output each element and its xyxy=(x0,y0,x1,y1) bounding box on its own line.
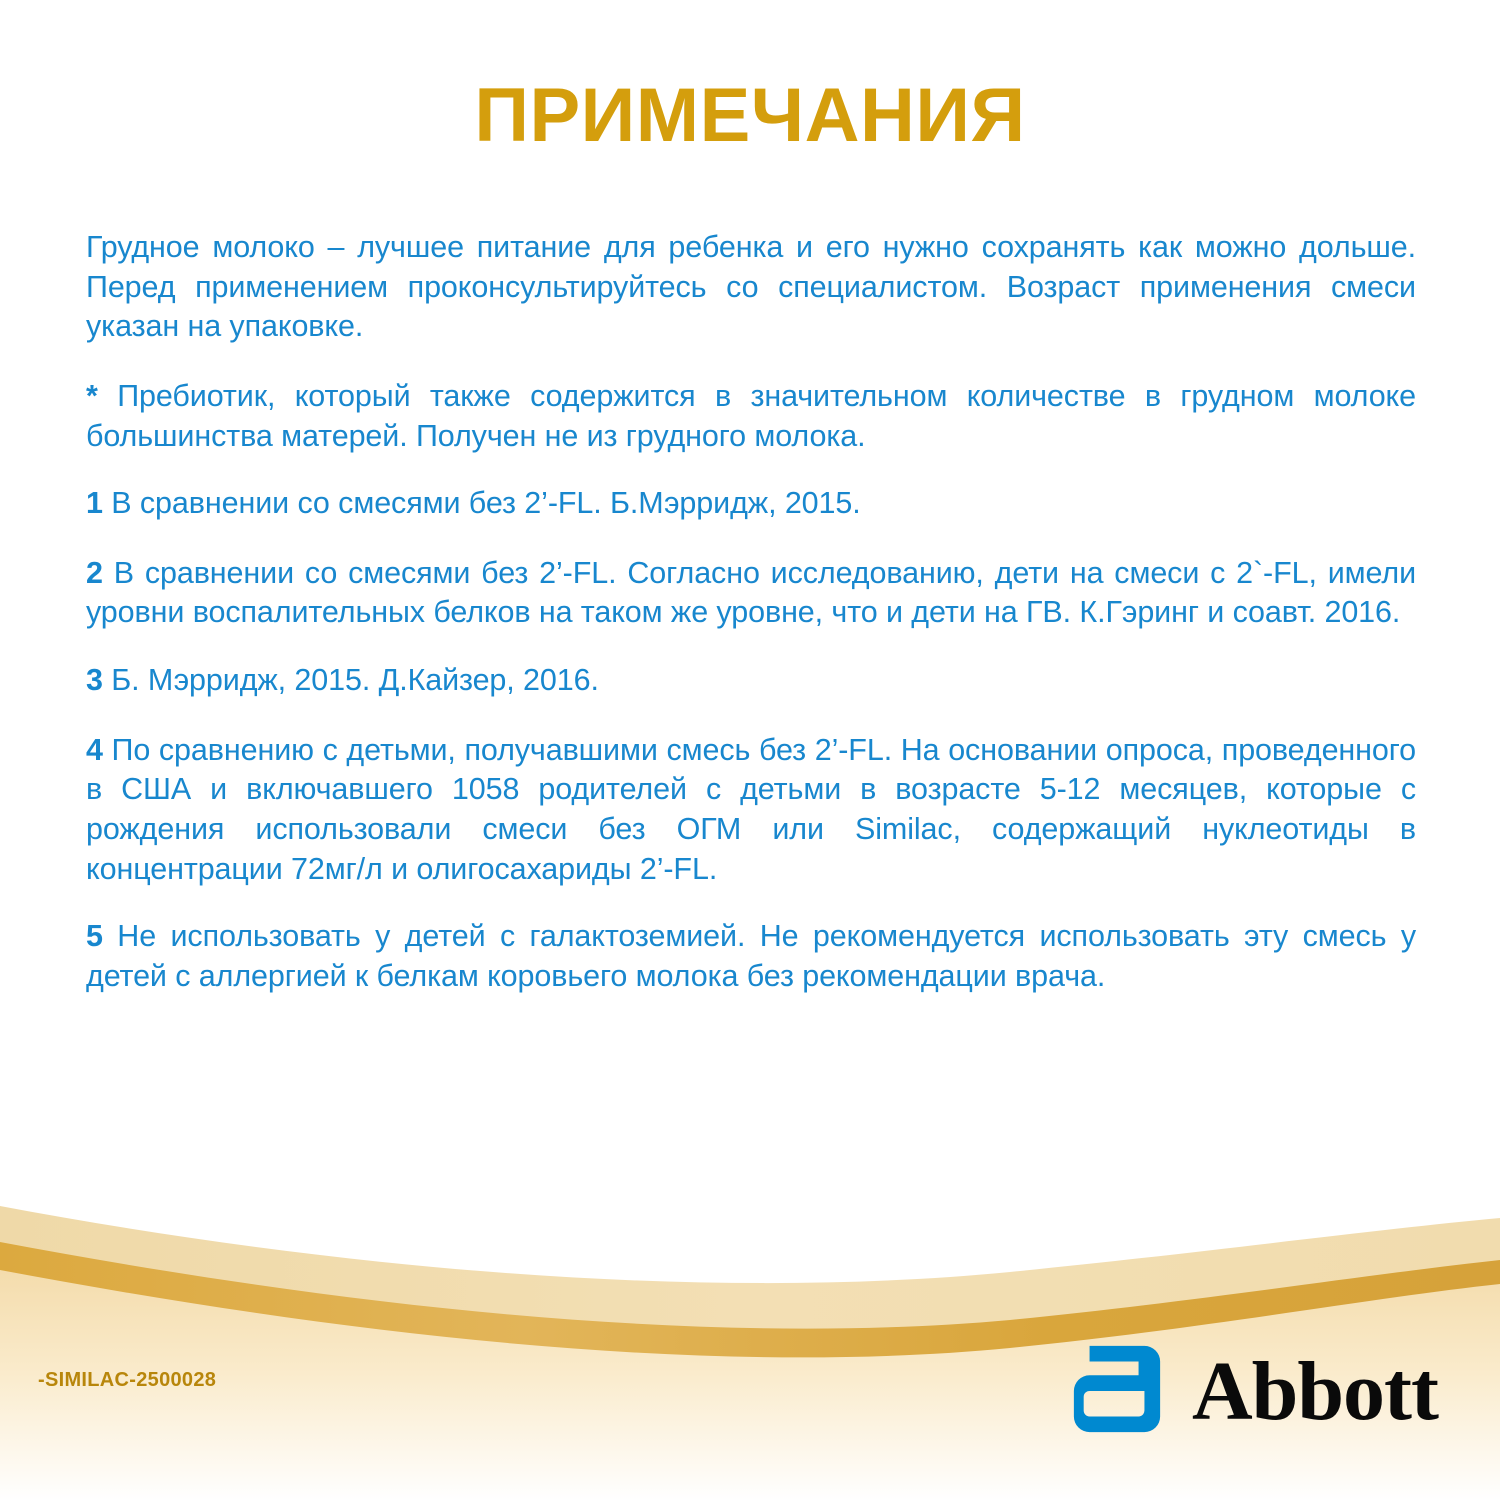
note-text-3: Б. Мэрридж, 2015. Д.Кайзер, 2016. xyxy=(111,663,599,697)
note-text-asterisk: Пребиотик, который также содержится в зн… xyxy=(86,379,1416,453)
note-item-asterisk: * Пребиотик, который также содержится в … xyxy=(86,377,1416,456)
page-title: ПРИМЕЧАНИЯ xyxy=(0,78,1500,154)
note-marker-3: 3 xyxy=(86,663,103,697)
note-text-5: Не использовать у детей с галактоземией.… xyxy=(86,919,1416,993)
footer-code: -SIMILAC-2500028 xyxy=(38,1369,216,1392)
abbott-wordmark: Abbott xyxy=(1192,1350,1438,1434)
note-marker-asterisk: * xyxy=(86,379,98,413)
note-text-2: В сравнении со смесями без 2’-FL. Соглас… xyxy=(86,556,1416,630)
note-text-1: В сравнении со смесями без 2’-FL. Б.Мэрр… xyxy=(111,486,860,520)
abbott-logo: Abbott xyxy=(1068,1340,1438,1438)
note-marker-4: 4 xyxy=(86,733,103,767)
note-item-4: 4 По сравнению с детьми, получавшими сме… xyxy=(86,731,1416,890)
note-marker-2: 2 xyxy=(86,556,103,590)
note-item-5: 5 Не использовать у детей с галактоземие… xyxy=(86,917,1416,996)
note-item-3: 3 Б. Мэрридж, 2015. Д.Кайзер, 2016. xyxy=(86,661,1416,701)
decorative-wave xyxy=(0,1170,1500,1500)
note-item-2: 2 В сравнении со смесями без 2’-FL. Согл… xyxy=(86,554,1416,633)
note-item-1: 1 В сравнении со смесями без 2’-FL. Б.Мэ… xyxy=(86,484,1416,524)
note-marker-5: 5 xyxy=(86,919,103,953)
note-text-intro: Грудное молоко – лучшее питание для ребе… xyxy=(86,230,1416,343)
note-text-4: По сравнению с детьми, получавшими смесь… xyxy=(86,733,1416,886)
notes-list: Грудное молоко – лучшее питание для ребе… xyxy=(86,228,1416,997)
slide-root: ПРИМЕЧАНИЯ Грудное молоко – лучшее питан… xyxy=(0,0,1500,1500)
note-item-intro: Грудное молоко – лучшее питание для ребе… xyxy=(86,228,1416,347)
wave-light-band xyxy=(0,1206,1500,1339)
note-marker-1: 1 xyxy=(86,486,103,520)
abbott-symbol-icon xyxy=(1068,1340,1166,1438)
